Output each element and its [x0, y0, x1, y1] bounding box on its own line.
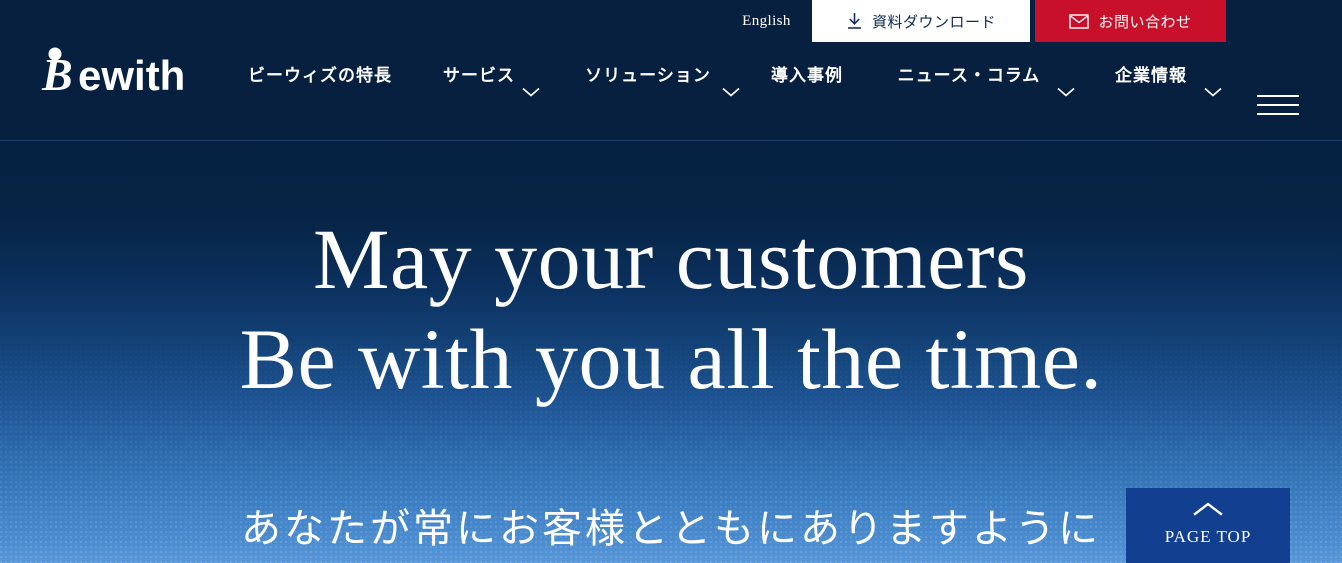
download-icon	[846, 12, 863, 30]
page-top-label: PAGE TOP	[1165, 527, 1252, 547]
hamburger-bar-2	[1257, 104, 1299, 106]
nav-item-case-studies[interactable]: 導入事例	[768, 60, 858, 92]
hamburger-bar-1	[1257, 95, 1299, 97]
utility-bar: English IR情報 採用情報 資料ダウンロード	[0, 0, 1342, 42]
chevron-up-icon	[1193, 502, 1223, 521]
utility-link-english[interactable]: English	[716, 0, 817, 42]
nav-label-news: ニュース・コラム	[885, 60, 1053, 92]
nav-item-news[interactable]: ニュース・コラム	[885, 60, 1095, 102]
hamburger-bar-3	[1257, 113, 1299, 115]
hero-heading-line-2: Be with you all the time.	[0, 306, 1342, 414]
svg-text:ewith: ewith	[78, 52, 185, 97]
contact-label: お問い合わせ	[1098, 11, 1191, 32]
mail-icon	[1069, 14, 1089, 29]
page-root: May your customers Be with you all the t…	[0, 0, 1342, 563]
bewith-logo-icon: B ewith	[40, 45, 230, 97]
nav-label-service: サービス	[440, 60, 518, 92]
nav-label-case-studies: 導入事例	[768, 60, 846, 92]
nav-item-service[interactable]: サービス	[440, 60, 558, 102]
nav-label-solution: ソリューション	[578, 60, 718, 92]
chevron-down-icon	[522, 84, 540, 102]
nav-item-features[interactable]: ビーウィズの特長	[248, 60, 408, 92]
nav-label-company: 企業情報	[1102, 60, 1200, 92]
nav-label-features: ビーウィズの特長	[248, 60, 398, 92]
nav-item-company[interactable]: 企業情報	[1102, 60, 1242, 102]
svg-text:B: B	[41, 49, 73, 97]
hamburger-icon[interactable]	[1257, 90, 1299, 120]
download-materials-label: 資料ダウンロード	[872, 11, 996, 32]
chevron-down-icon	[1204, 84, 1222, 102]
nav-item-solution[interactable]: ソリューション	[578, 60, 758, 102]
contact-button[interactable]: お問い合わせ	[1035, 0, 1226, 42]
chevron-down-icon	[722, 84, 740, 102]
main-navigation: ビーウィズの特長 サービス ソリューション 導入事例 ニュース・コラム	[240, 60, 1240, 132]
download-materials-button[interactable]: 資料ダウンロード	[812, 0, 1030, 42]
page-top-button[interactable]: PAGE TOP	[1126, 488, 1290, 563]
site-logo[interactable]: B ewith	[40, 45, 230, 97]
chevron-down-icon	[1057, 84, 1075, 102]
site-header: English IR情報 採用情報 資料ダウンロード	[0, 0, 1342, 141]
hero-heading: May your customers Be with you all the t…	[0, 213, 1342, 413]
hero-heading-line-1: May your customers	[0, 213, 1342, 306]
